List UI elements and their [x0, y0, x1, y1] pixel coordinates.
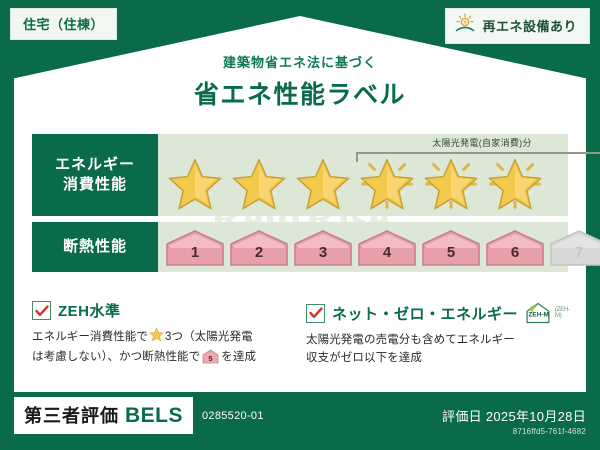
insulation-grade-4: 4	[356, 228, 418, 266]
record-id: 8716ffd5-761f-4682	[442, 427, 586, 436]
claim-net-zero-line2: 収支がゼロ以下を達成	[306, 352, 422, 364]
row-insulation-performance: 断熱性能 1 2 3 4	[32, 222, 568, 272]
evaluation-date-value: 2025年10月28日	[486, 409, 586, 424]
svg-text:5: 5	[209, 354, 213, 363]
claim-net-zero-title: ネット・ゼロ・エネルギー	[332, 303, 518, 324]
row-label-insulation: 断熱性能	[32, 222, 158, 272]
evaluation-date: 評価日 2025年10月28日	[442, 406, 586, 425]
insulation-grade-1: 1	[164, 228, 226, 266]
zeh-m-logo-caption: (ZEH-M)	[555, 307, 574, 319]
building-type-chip: 住宅（住棟）	[10, 8, 117, 40]
checkbox-net-zero-energy[interactable]	[306, 304, 325, 323]
energy-star-rating	[158, 152, 568, 214]
row-energy-performance: エネルギー 消費性能 太陽光発電(自家消費)分	[32, 134, 568, 216]
bels-logo-text: BELS	[125, 404, 183, 428]
claim-zeh-level: ZEH水準 エネルギー消費性能で3つ（太陽光発電は考慮しない）、かつ断熱性能で5…	[32, 300, 292, 371]
claim-net-zero-line1: 太陽光発電の売電分も含めてエネルギー	[306, 334, 515, 346]
claim-zeh-level-title: ZEH水準	[58, 300, 121, 321]
renewable-badge-label: 再エネ設備あり	[482, 16, 577, 35]
star-2	[228, 152, 290, 214]
star-3	[292, 152, 354, 214]
check-icon	[309, 307, 323, 319]
third-party-evaluation-label: 第三者評価	[24, 402, 119, 428]
zeh-m-logo: ZEH-M (ZEH-M)	[523, 300, 574, 326]
star-1	[164, 152, 226, 214]
inline-star-icon	[149, 327, 164, 349]
claim-zeh-text-3: は考慮しない）、かつ断熱性能で	[32, 351, 200, 363]
sun-icon	[454, 13, 476, 38]
star-4	[356, 152, 418, 214]
row-body-insulation: 1 2 3 4 5	[158, 222, 568, 272]
footer-date-block: 評価日 2025年10月28日 8716ffd5-761f-4682	[442, 406, 586, 436]
insulation-grade-2: 2	[228, 228, 290, 266]
claim-zeh-text-4: を達成	[221, 351, 256, 363]
inline-house-badge: 5	[202, 349, 219, 371]
insulation-grade-6: 6	[484, 228, 546, 266]
row-body-energy: 太陽光発電(自家消費)分	[158, 134, 568, 216]
solar-bracket-label: 太陽光発電(自家消費)分	[356, 136, 600, 149]
insulation-grade-scale: 1 2 3 4 5	[164, 228, 600, 266]
bels-chip: 第三者評価 BELS	[14, 397, 193, 434]
certificate-number: 0285520-01	[202, 410, 264, 422]
claim-zeh-level-body: エネルギー消費性能で3つ（太陽光発電は考慮しない）、かつ断熱性能で5を達成	[32, 327, 292, 371]
row-label-insulation-line1: 断熱性能	[63, 237, 127, 257]
renewable-equipment-badge: 再エネ設備あり	[445, 8, 590, 44]
insulation-grade-5: 5	[420, 228, 482, 266]
page-title: 省エネ性能ラベル	[0, 75, 600, 111]
star-6	[484, 152, 546, 214]
footer-evaluation: 第三者評価 BELS 0285520-01	[14, 397, 264, 434]
svg-text:ZEH-M: ZEH-M	[528, 311, 548, 318]
row-label-energy: エネルギー 消費性能	[32, 134, 158, 216]
title-subtitle: 建築物省エネ法に基づく	[0, 52, 600, 71]
title-block: 建築物省エネ法に基づく 省エネ性能ラベル	[0, 52, 600, 111]
insulation-grade-7: 7	[548, 228, 600, 266]
row-label-energy-line1: エネルギー	[55, 155, 135, 175]
claim-zeh-level-header: ZEH水準	[32, 300, 292, 321]
check-icon	[35, 305, 49, 317]
checkbox-zeh-level[interactable]	[32, 301, 51, 320]
insulation-grade-3: 3	[292, 228, 354, 266]
claim-net-zero-header: ネット・ゼロ・エネルギー ZEH-M (ZEH-M)	[306, 300, 568, 326]
claims-section: ZEH水準 エネルギー消費性能で3つ（太陽光発電は考慮しない）、かつ断熱性能で5…	[32, 300, 568, 371]
claim-zeh-text-1: エネルギー消費性能で	[32, 331, 148, 343]
evaluation-date-label: 評価日	[442, 409, 482, 424]
claim-zeh-text-2: 3つ（太陽光発電	[165, 331, 253, 343]
claim-net-zero-body: 太陽光発電の売電分も含めてエネルギー収支がゼロ以下を達成	[306, 332, 568, 368]
energy-performance-label: RentRise 住宅（住棟） 再エネ設備あり 建築物省エネ法に基づく 省エネ性…	[0, 0, 600, 450]
claim-net-zero-energy: ネット・ゼロ・エネルギー ZEH-M (ZEH-M) 太陽光発電の売電分も含めて…	[306, 300, 568, 371]
metric-rows: エネルギー 消費性能 太陽光発電(自家消費)分	[32, 134, 568, 278]
row-label-energy-line2: 消費性能	[63, 175, 127, 195]
star-5	[420, 152, 482, 214]
